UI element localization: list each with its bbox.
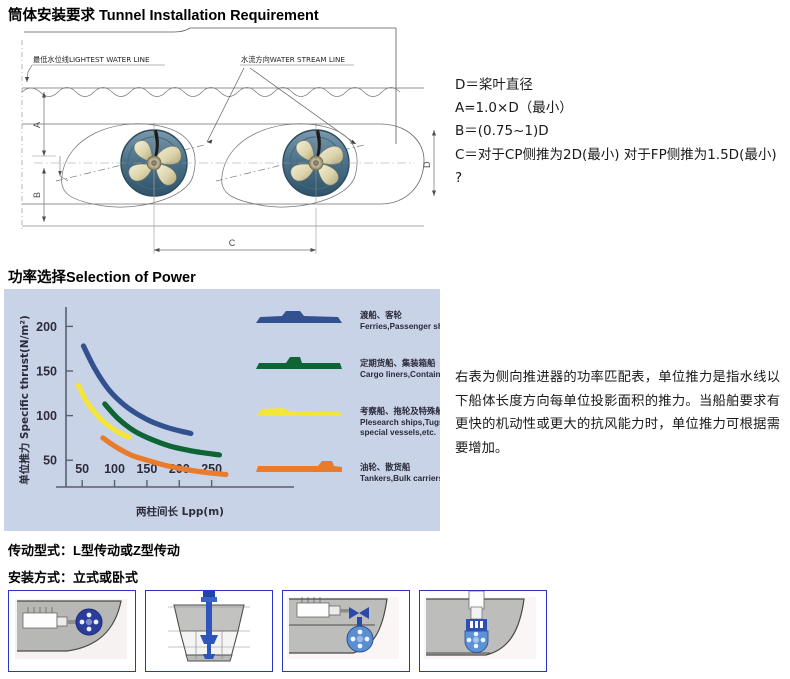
chart-explanation-text: 右表为侧向推进器的功率匹配表，单位推力是指水线以下船体长度方向每单位投影面积的推…: [455, 366, 780, 461]
hull-outline: [24, 28, 396, 144]
page-title-tunnel-installation: 筒体安装要求 Tunnel Installation Requirement: [8, 4, 319, 25]
formula-line-a: A=1.0×D（最小）: [455, 97, 785, 120]
legend-label-en-1: Cargo liners,Container ships: [360, 370, 440, 379]
dim-label-d: D: [422, 161, 432, 168]
lightest-water-line-callout: 最低水位线LIGHTEST WATER LINE: [25, 55, 165, 82]
thumbnail-horizontal-l-drive[interactable]: [8, 590, 136, 672]
water-surface: [22, 88, 424, 97]
y-tick-label: 50: [43, 454, 57, 468]
legend-label-cn-3: 油轮、散货船: [360, 462, 411, 472]
thumbnail-vertical-stern-drive[interactable]: [419, 590, 547, 672]
stream-line-label: 水流方向WATER STREAM LINE: [241, 55, 345, 64]
power-selection-chart: 5010015020050100150200250单位推力 Specific t…: [4, 289, 440, 531]
legend-label-cn-0: 渡船、客轮: [360, 310, 402, 320]
x-tick-label: 100: [104, 462, 125, 476]
legend-label-en-2: special vessels,etc.: [360, 428, 436, 437]
x-tick-label: 50: [75, 462, 89, 476]
y-tick-label: 150: [36, 365, 57, 379]
formula-definitions: D＝桨叶直径 A=1.0×D（最小） B＝(0.75~1)D C＝对于CP侧推为…: [455, 74, 785, 190]
legend-label-en-3: Tankers,Bulk carriers: [360, 474, 440, 483]
dim-label-b: B: [32, 192, 42, 198]
x-axis-title: 两柱间长 Lpp(m): [136, 505, 224, 518]
legend-label-cn-2: 考察船、拖轮及特殊船: [360, 406, 440, 416]
water-line-label: 最低水位线LIGHTEST WATER LINE: [33, 55, 150, 64]
hull-side-outline: [22, 124, 424, 226]
mounting-type-line: 安装方式：立式或卧式: [8, 567, 138, 586]
dimension-d: D: [422, 130, 436, 196]
legend-label-cn-1: 定期货船、集装箱船: [359, 358, 436, 368]
water-stream-line-callout: 水流方向WATER STREAM LINE: [207, 55, 356, 144]
formula-line-question: ?: [455, 167, 785, 190]
drive-type-line: 传动型式：L型传动或Z型传动: [8, 540, 180, 559]
page-root: 筒体安装要求 Tunnel Installation Requirement: [0, 0, 790, 679]
page-title-selection-of-power: 功率选择Selection of Power: [8, 266, 196, 287]
tunnel-installation-drawing: 最低水位线LIGHTEST WATER LINE 水流方向WATER STREA…: [4, 26, 450, 258]
installation-thumbnail-row: [8, 590, 568, 674]
y-tick-label: 100: [36, 409, 57, 423]
legend-label-en-2: Plesearch ships,Tugs,Other: [360, 418, 440, 427]
dim-label-c: C: [229, 238, 236, 248]
y-tick-label: 200: [36, 320, 57, 334]
legend-label-en-0: Ferries,Passenger ships: [360, 322, 440, 331]
formula-line-b: B＝(0.75~1)D: [455, 120, 785, 143]
thumbnail-horizontal-engine-drive[interactable]: [282, 590, 410, 672]
dimension-a: A: [32, 92, 46, 156]
dim-label-a: A: [32, 122, 42, 128]
formula-line-d: D＝桨叶直径: [455, 74, 785, 97]
formula-line-c: C＝对于CP侧推为2D(最小) 对于FP侧推为1.5D(最小): [455, 144, 785, 167]
dimension-b: B: [32, 156, 56, 222]
thumbnail-vertical-z-drive[interactable]: [145, 590, 273, 672]
y-axis-title: 单位推力 Specific thrust(N/m²): [18, 315, 31, 485]
